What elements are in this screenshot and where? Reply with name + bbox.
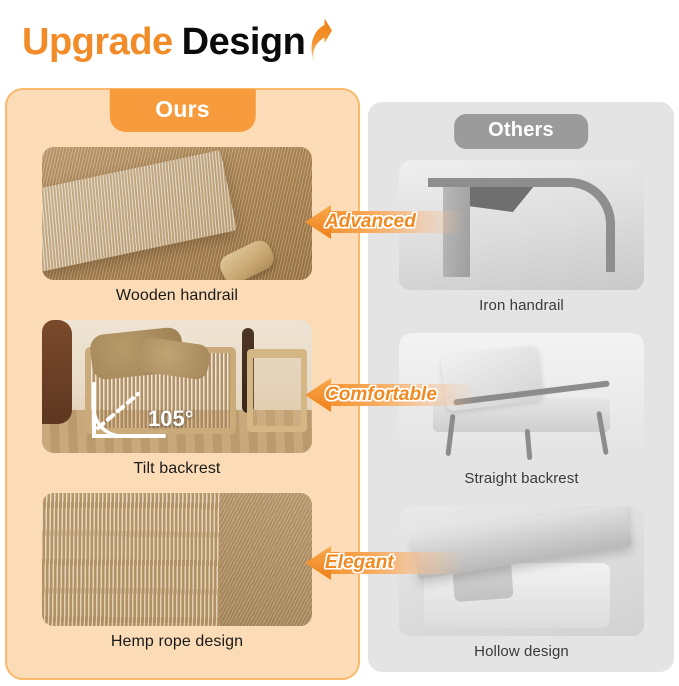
callout-label-elegant: Elegant — [325, 552, 394, 574]
upgrade-design-infographic: Upgrade Design Ours — [0, 0, 679, 686]
badge-others: Others — [454, 114, 588, 149]
others-caption-3: Hollow design — [399, 643, 644, 660]
ours-caption-1: Wooden handrail — [42, 287, 312, 305]
hemp-weave-texture — [42, 493, 312, 626]
callout-arrow-elegant: Elegant — [305, 546, 465, 580]
ours-item-hemp-rope-design: Hemp rope design — [42, 493, 312, 651]
angle-value: 105° — [148, 406, 194, 432]
callout-label-advanced: Advanced — [325, 211, 416, 233]
weave-side-shape — [220, 493, 312, 626]
others-caption-1: Iron handrail — [399, 297, 644, 314]
ours-item-wooden-handrail: Wooden handrail — [42, 147, 312, 305]
comparison-panels: Ours Wooden handrail — [5, 88, 674, 680]
up-curved-arrow-icon — [308, 18, 338, 66]
swoosh-band-outer — [429, 0, 679, 97]
title-word-design: Design — [182, 23, 306, 61]
callout-arrow-advanced: Advanced — [305, 205, 465, 239]
photo-tilt-backrest: 105° — [42, 320, 312, 453]
others-caption-2: Straight backrest — [399, 470, 644, 487]
title-word-upgrade: Upgrade — [22, 23, 173, 61]
side-table-shape — [247, 349, 306, 431]
angle-annotation: 105° — [86, 376, 206, 448]
others-item-hollow-design: Hollow design — [399, 506, 644, 660]
photo-hemp-rope-design — [42, 493, 312, 626]
badge-ours: Ours — [109, 89, 255, 132]
photo-wooden-handrail — [42, 147, 312, 280]
leg-shape-2 — [525, 429, 533, 461]
wall-panel-shape — [42, 320, 72, 424]
ours-caption-2: Tilt backrest — [42, 460, 312, 478]
callout-arrow-comfortable: Comfortable — [305, 378, 477, 412]
callout-label-comfortable: Comfortable — [325, 384, 437, 406]
ours-caption-3: Hemp rope design — [42, 633, 312, 651]
ours-item-tilt-backrest: 105° Tilt backrest — [42, 320, 312, 478]
page-title: Upgrade Design — [22, 14, 338, 70]
